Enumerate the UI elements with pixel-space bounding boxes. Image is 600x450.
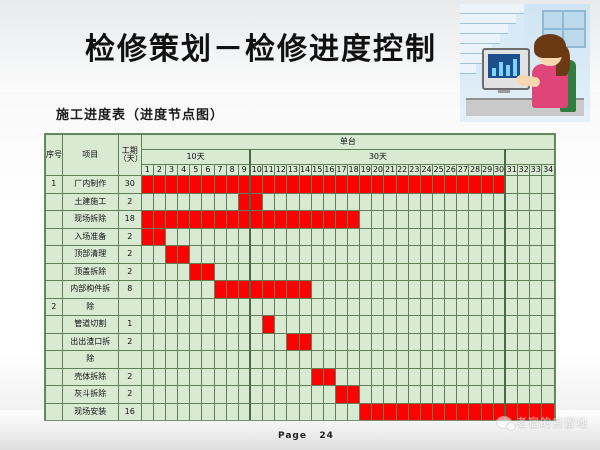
gantt-empty-cell (481, 228, 493, 246)
gantt-empty-cell (518, 263, 530, 281)
clipart-chart-bar (513, 59, 517, 76)
gantt-empty-cell (481, 386, 493, 404)
gantt-empty-cell (505, 316, 517, 334)
gantt-empty-cell (408, 281, 420, 299)
gantt-empty-cell (153, 368, 165, 386)
gantt-empty-cell (542, 333, 555, 351)
gantt-empty-cell (287, 316, 299, 334)
gantt-empty-cell (493, 333, 505, 351)
watermark-text: 老宿的自留地 (516, 414, 588, 430)
gantt-empty-cell (226, 351, 238, 369)
gantt-empty-cell (299, 403, 311, 421)
gantt-empty-cell (275, 368, 287, 386)
gantt-empty-cell (384, 351, 396, 369)
table-row: 顶部清理2 (46, 246, 555, 264)
gantt-empty-cell (360, 228, 372, 246)
gantt-empty-cell (408, 316, 420, 334)
gantt-empty-cell (396, 386, 408, 404)
gantt-empty-cell (396, 316, 408, 334)
gantt-empty-cell (518, 386, 530, 404)
day-number-header: 17 (335, 165, 347, 176)
gantt-empty-cell (445, 351, 457, 369)
gantt-empty-cell (214, 263, 226, 281)
day-number-header: 11 (263, 165, 275, 176)
day-number-header: 31 (505, 165, 517, 176)
day-number-header: 18 (348, 165, 360, 176)
gantt-empty-cell (360, 368, 372, 386)
row-sequence (46, 316, 63, 334)
row-sequence (46, 403, 63, 421)
header-unit-group: 单台 (141, 135, 554, 150)
gantt-empty-cell (360, 193, 372, 211)
gantt-bar-cell (384, 403, 396, 421)
gantt-empty-cell (226, 333, 238, 351)
gantt-empty-cell (505, 351, 517, 369)
gantt-empty-cell (275, 333, 287, 351)
day-number-header: 23 (408, 165, 420, 176)
day-number-header: 25 (433, 165, 445, 176)
gantt-empty-cell (457, 263, 469, 281)
gantt-empty-cell (542, 368, 555, 386)
gantt-empty-cell (165, 193, 177, 211)
page-title: 检修策划－检修进度控制 (85, 24, 437, 68)
gantt-empty-cell (299, 421, 311, 422)
gantt-empty-cell (178, 386, 190, 404)
gantt-empty-cell (178, 421, 190, 422)
gantt-empty-cell (469, 298, 481, 316)
row-duration (118, 351, 141, 369)
gantt-empty-cell (530, 298, 542, 316)
clipart-stair-step (460, 24, 508, 34)
gantt-bar-cell (178, 176, 190, 194)
gantt-empty-cell (178, 351, 190, 369)
gantt-empty-cell (165, 333, 177, 351)
gantt-empty-cell (250, 368, 262, 386)
header-duration-line2: （天） (119, 155, 141, 163)
gantt-empty-cell (323, 263, 335, 281)
gantt-empty-cell (469, 351, 481, 369)
gantt-empty-cell (226, 246, 238, 264)
gantt-empty-cell (481, 368, 493, 386)
table-row: 内部构件拆8 (46, 281, 555, 299)
gantt-empty-cell (214, 403, 226, 421)
gantt-empty-cell (445, 368, 457, 386)
gantt-bar-cell (493, 176, 505, 194)
gantt-empty-cell (420, 316, 432, 334)
gantt-empty-cell (214, 333, 226, 351)
gantt-bar-cell (433, 403, 445, 421)
gantt-empty-cell (481, 211, 493, 229)
row-project-name: 支座及灰斗 (62, 421, 118, 422)
gantt-bar-cell (250, 193, 262, 211)
gantt-empty-cell (481, 298, 493, 316)
clipart-chart-bar (492, 68, 496, 76)
gantt-empty-cell (408, 211, 420, 229)
gantt-empty-cell (335, 246, 347, 264)
gantt-empty-cell (153, 193, 165, 211)
gantt-empty-cell (323, 281, 335, 299)
gantt-bar-cell (420, 176, 432, 194)
gantt-empty-cell (287, 246, 299, 264)
gantt-empty-cell (141, 333, 153, 351)
gantt-bar-cell (360, 176, 372, 194)
gantt-empty-cell (518, 333, 530, 351)
gantt-empty-cell (408, 351, 420, 369)
gantt-empty-cell (275, 421, 287, 422)
gantt-empty-cell (469, 333, 481, 351)
gantt-empty-cell (311, 263, 323, 281)
gantt-empty-cell (505, 228, 517, 246)
gantt-empty-cell (348, 298, 360, 316)
gantt-empty-cell (287, 263, 299, 281)
gantt-empty-cell (493, 386, 505, 404)
gantt-empty-cell (238, 386, 250, 404)
row-project-name: 内部构件拆 (62, 281, 118, 299)
gantt-bar-cell (323, 368, 335, 386)
gantt-empty-cell (178, 316, 190, 334)
gantt-empty-cell (250, 263, 262, 281)
gantt-empty-cell (505, 333, 517, 351)
gantt-empty-cell (505, 176, 517, 194)
gantt-bar-cell (287, 281, 299, 299)
gantt-empty-cell (238, 316, 250, 334)
gantt-empty-cell (141, 281, 153, 299)
day-number-header: 28 (469, 165, 481, 176)
schedule-table: 序号 项目 工期 （天） 单台 10天 30天 1234567891011121… (45, 134, 555, 421)
gantt-bar-cell (299, 176, 311, 194)
gantt-empty-cell (530, 228, 542, 246)
gantt-empty-cell (299, 298, 311, 316)
day-number-header: 32 (518, 165, 530, 176)
section-subtitle: 施工进度表（进度节点图） (56, 104, 224, 123)
table-row: 顶盖拆除2 (46, 263, 555, 281)
gantt-empty-cell (190, 316, 202, 334)
gantt-empty-cell (275, 263, 287, 281)
gantt-empty-cell (348, 333, 360, 351)
gantt-empty-cell (335, 403, 347, 421)
gantt-empty-cell (469, 228, 481, 246)
gantt-empty-cell (420, 386, 432, 404)
gantt-empty-cell (493, 246, 505, 264)
header-row-group-top: 序号 项目 工期 （天） 单台 (46, 135, 555, 150)
gantt-empty-cell (445, 298, 457, 316)
gantt-empty-cell (396, 298, 408, 316)
gantt-empty-cell (542, 211, 555, 229)
row-duration: 2 (118, 368, 141, 386)
gantt-empty-cell (396, 211, 408, 229)
row-sequence (46, 246, 63, 264)
gantt-empty-cell (433, 211, 445, 229)
gantt-empty-cell (457, 368, 469, 386)
table-row: 1厂内制作30 (46, 176, 555, 194)
row-duration: 2 (118, 333, 141, 351)
gantt-empty-cell (226, 316, 238, 334)
gantt-empty-cell (263, 228, 275, 246)
gantt-empty-cell (153, 421, 165, 422)
gantt-empty-cell (335, 351, 347, 369)
gantt-bar-cell (348, 211, 360, 229)
gantt-empty-cell (141, 368, 153, 386)
day-number-header: 33 (530, 165, 542, 176)
table-header: 序号 项目 工期 （天） 单台 10天 30天 1234567891011121… (46, 135, 555, 176)
gantt-empty-cell (323, 193, 335, 211)
gantt-empty-cell (263, 193, 275, 211)
gantt-empty-cell (165, 351, 177, 369)
gantt-empty-cell (348, 228, 360, 246)
table-row: 现场安装16 (46, 403, 555, 421)
gantt-bar-cell (250, 211, 262, 229)
gantt-empty-cell (384, 263, 396, 281)
row-sequence (46, 228, 63, 246)
gantt-empty-cell (153, 263, 165, 281)
clipart-stair-step (460, 34, 500, 44)
gantt-empty-cell (493, 228, 505, 246)
row-project-name: 除 (62, 298, 118, 316)
gantt-empty-cell (323, 421, 335, 422)
gantt-empty-cell (190, 228, 202, 246)
header-duration: 工期 （天） (118, 135, 141, 176)
gantt-empty-cell (433, 298, 445, 316)
gantt-empty-cell (141, 263, 153, 281)
gantt-empty-cell (384, 298, 396, 316)
row-duration (118, 421, 141, 422)
gantt-empty-cell (433, 368, 445, 386)
gantt-empty-cell (542, 246, 555, 264)
gantt-empty-cell (542, 386, 555, 404)
gantt-empty-cell (226, 386, 238, 404)
gantt-empty-cell (263, 386, 275, 404)
gantt-empty-cell (457, 298, 469, 316)
gantt-empty-cell (335, 281, 347, 299)
row-duration: 18 (118, 211, 141, 229)
gantt-empty-cell (408, 193, 420, 211)
row-duration: 8 (118, 281, 141, 299)
gantt-empty-cell (360, 211, 372, 229)
page-footer: Page 24 (278, 431, 334, 441)
gantt-empty-cell (214, 228, 226, 246)
gantt-empty-cell (433, 263, 445, 281)
gantt-empty-cell (214, 298, 226, 316)
gantt-empty-cell (457, 333, 469, 351)
gantt-empty-cell (141, 193, 153, 211)
gantt-empty-cell (178, 193, 190, 211)
gantt-bar-cell (263, 176, 275, 194)
gantt-empty-cell (323, 351, 335, 369)
gantt-empty-cell (433, 246, 445, 264)
gantt-empty-cell (542, 281, 555, 299)
clipart-stair-step (460, 64, 476, 74)
gantt-empty-cell (250, 421, 262, 422)
gantt-bar-cell (263, 211, 275, 229)
gantt-empty-cell (384, 211, 396, 229)
gantt-empty-cell (214, 421, 226, 422)
gantt-empty-cell (372, 386, 384, 404)
gantt-bar-cell (457, 176, 469, 194)
gantt-empty-cell (457, 246, 469, 264)
gantt-empty-cell (530, 368, 542, 386)
gantt-empty-cell (238, 298, 250, 316)
gantt-empty-cell (469, 211, 481, 229)
gantt-bar-cell (445, 176, 457, 194)
gantt-empty-cell (202, 281, 214, 299)
gantt-empty-cell (433, 228, 445, 246)
gantt-empty-cell (323, 386, 335, 404)
gantt-bar-cell (384, 421, 396, 422)
gantt-empty-cell (226, 403, 238, 421)
gantt-bar-cell (165, 176, 177, 194)
gantt-empty-cell (202, 351, 214, 369)
gantt-empty-cell (481, 421, 493, 422)
gantt-empty-cell (481, 281, 493, 299)
gantt-empty-cell (202, 316, 214, 334)
row-sequence: 2 (46, 298, 63, 316)
gantt-empty-cell (299, 193, 311, 211)
gantt-empty-cell (372, 211, 384, 229)
gantt-empty-cell (408, 368, 420, 386)
day-number-header: 13 (287, 165, 299, 176)
gantt-empty-cell (178, 403, 190, 421)
clipart-person-hair (534, 34, 566, 58)
gantt-bar-cell (287, 211, 299, 229)
gantt-bar-cell (481, 176, 493, 194)
row-duration: 30 (118, 176, 141, 194)
gantt-bar-cell (396, 403, 408, 421)
gantt-empty-cell (190, 403, 202, 421)
gantt-empty-cell (348, 351, 360, 369)
gantt-empty-cell (153, 333, 165, 351)
gantt-empty-cell (238, 246, 250, 264)
table-row: 出出渣口拆2 (46, 333, 555, 351)
day-number-header: 5 (190, 165, 202, 176)
gantt-bar-cell (178, 246, 190, 264)
gantt-empty-cell (323, 316, 335, 334)
gantt-empty-cell (542, 263, 555, 281)
gantt-empty-cell (360, 351, 372, 369)
gantt-empty-cell (238, 368, 250, 386)
gantt-empty-cell (396, 333, 408, 351)
gantt-bar-cell (238, 281, 250, 299)
gantt-bar-cell (250, 281, 262, 299)
gantt-empty-cell (445, 316, 457, 334)
gantt-empty-cell (311, 228, 323, 246)
gantt-empty-cell (469, 368, 481, 386)
gantt-empty-cell (335, 368, 347, 386)
clipart-monitor-screen (488, 54, 520, 78)
header-project: 项目 (62, 135, 118, 176)
gantt-bar-cell (481, 403, 493, 421)
gantt-empty-cell (445, 281, 457, 299)
table-row: 灰斗拆除2 (46, 386, 555, 404)
gantt-empty-cell (518, 281, 530, 299)
gantt-bar-cell (226, 176, 238, 194)
day-number-header: 9 (238, 165, 250, 176)
gantt-empty-cell (408, 228, 420, 246)
gantt-empty-cell (323, 403, 335, 421)
gantt-empty-cell (311, 316, 323, 334)
gantt-empty-cell (396, 193, 408, 211)
gantt-empty-cell (348, 316, 360, 334)
gantt-empty-cell (335, 193, 347, 211)
gantt-empty-cell (408, 333, 420, 351)
row-sequence (46, 281, 63, 299)
gantt-empty-cell (518, 193, 530, 211)
gantt-empty-cell (372, 228, 384, 246)
gantt-empty-cell (360, 281, 372, 299)
row-sequence (46, 386, 63, 404)
gantt-empty-cell (530, 333, 542, 351)
gantt-empty-cell (299, 228, 311, 246)
gantt-empty-cell (141, 351, 153, 369)
gantt-empty-cell (263, 263, 275, 281)
gantt-empty-cell (299, 351, 311, 369)
gantt-empty-cell (408, 298, 420, 316)
gantt-empty-cell (396, 421, 408, 422)
gantt-empty-cell (445, 211, 457, 229)
gantt-empty-cell (311, 386, 323, 404)
gantt-empty-cell (348, 403, 360, 421)
gantt-empty-cell (250, 298, 262, 316)
gantt-empty-cell (542, 176, 555, 194)
gantt-empty-cell (505, 246, 517, 264)
gantt-empty-cell (493, 193, 505, 211)
gantt-empty-cell (384, 316, 396, 334)
gantt-empty-cell (493, 281, 505, 299)
gantt-empty-cell (348, 193, 360, 211)
gantt-empty-cell (165, 316, 177, 334)
gantt-empty-cell (311, 333, 323, 351)
gantt-empty-cell (238, 333, 250, 351)
gantt-empty-cell (360, 333, 372, 351)
day-number-header: 3 (165, 165, 177, 176)
gantt-empty-cell (384, 228, 396, 246)
gantt-bar-cell (226, 211, 238, 229)
gantt-empty-cell (226, 298, 238, 316)
gantt-bar-cell (348, 176, 360, 194)
gantt-empty-cell (518, 351, 530, 369)
gantt-empty-cell (445, 193, 457, 211)
gantt-empty-cell (202, 368, 214, 386)
gantt-empty-cell (493, 351, 505, 369)
gantt-empty-cell (530, 386, 542, 404)
gantt-empty-cell (299, 316, 311, 334)
gantt-empty-cell (275, 298, 287, 316)
gantt-bar-cell (323, 176, 335, 194)
gantt-empty-cell (299, 368, 311, 386)
gantt-empty-cell (518, 368, 530, 386)
gantt-empty-cell (372, 263, 384, 281)
gantt-empty-cell (469, 193, 481, 211)
gantt-empty-cell (518, 246, 530, 264)
gantt-empty-cell (433, 421, 445, 422)
gantt-bar-cell (153, 211, 165, 229)
gantt-empty-cell (469, 263, 481, 281)
gantt-empty-cell (165, 421, 177, 422)
gantt-empty-cell (518, 298, 530, 316)
gantt-empty-cell (372, 281, 384, 299)
row-sequence (46, 193, 63, 211)
gantt-empty-cell (214, 316, 226, 334)
gantt-bar-cell (372, 176, 384, 194)
table-row: 支座及灰斗 (46, 421, 555, 422)
clipart-window-mullion (544, 28, 584, 30)
gantt-empty-cell (481, 351, 493, 369)
gantt-bar-cell (263, 281, 275, 299)
gantt-empty-cell (250, 228, 262, 246)
gantt-empty-cell (238, 228, 250, 246)
gantt-empty-cell (311, 281, 323, 299)
gantt-empty-cell (396, 263, 408, 281)
gantt-empty-cell (408, 263, 420, 281)
